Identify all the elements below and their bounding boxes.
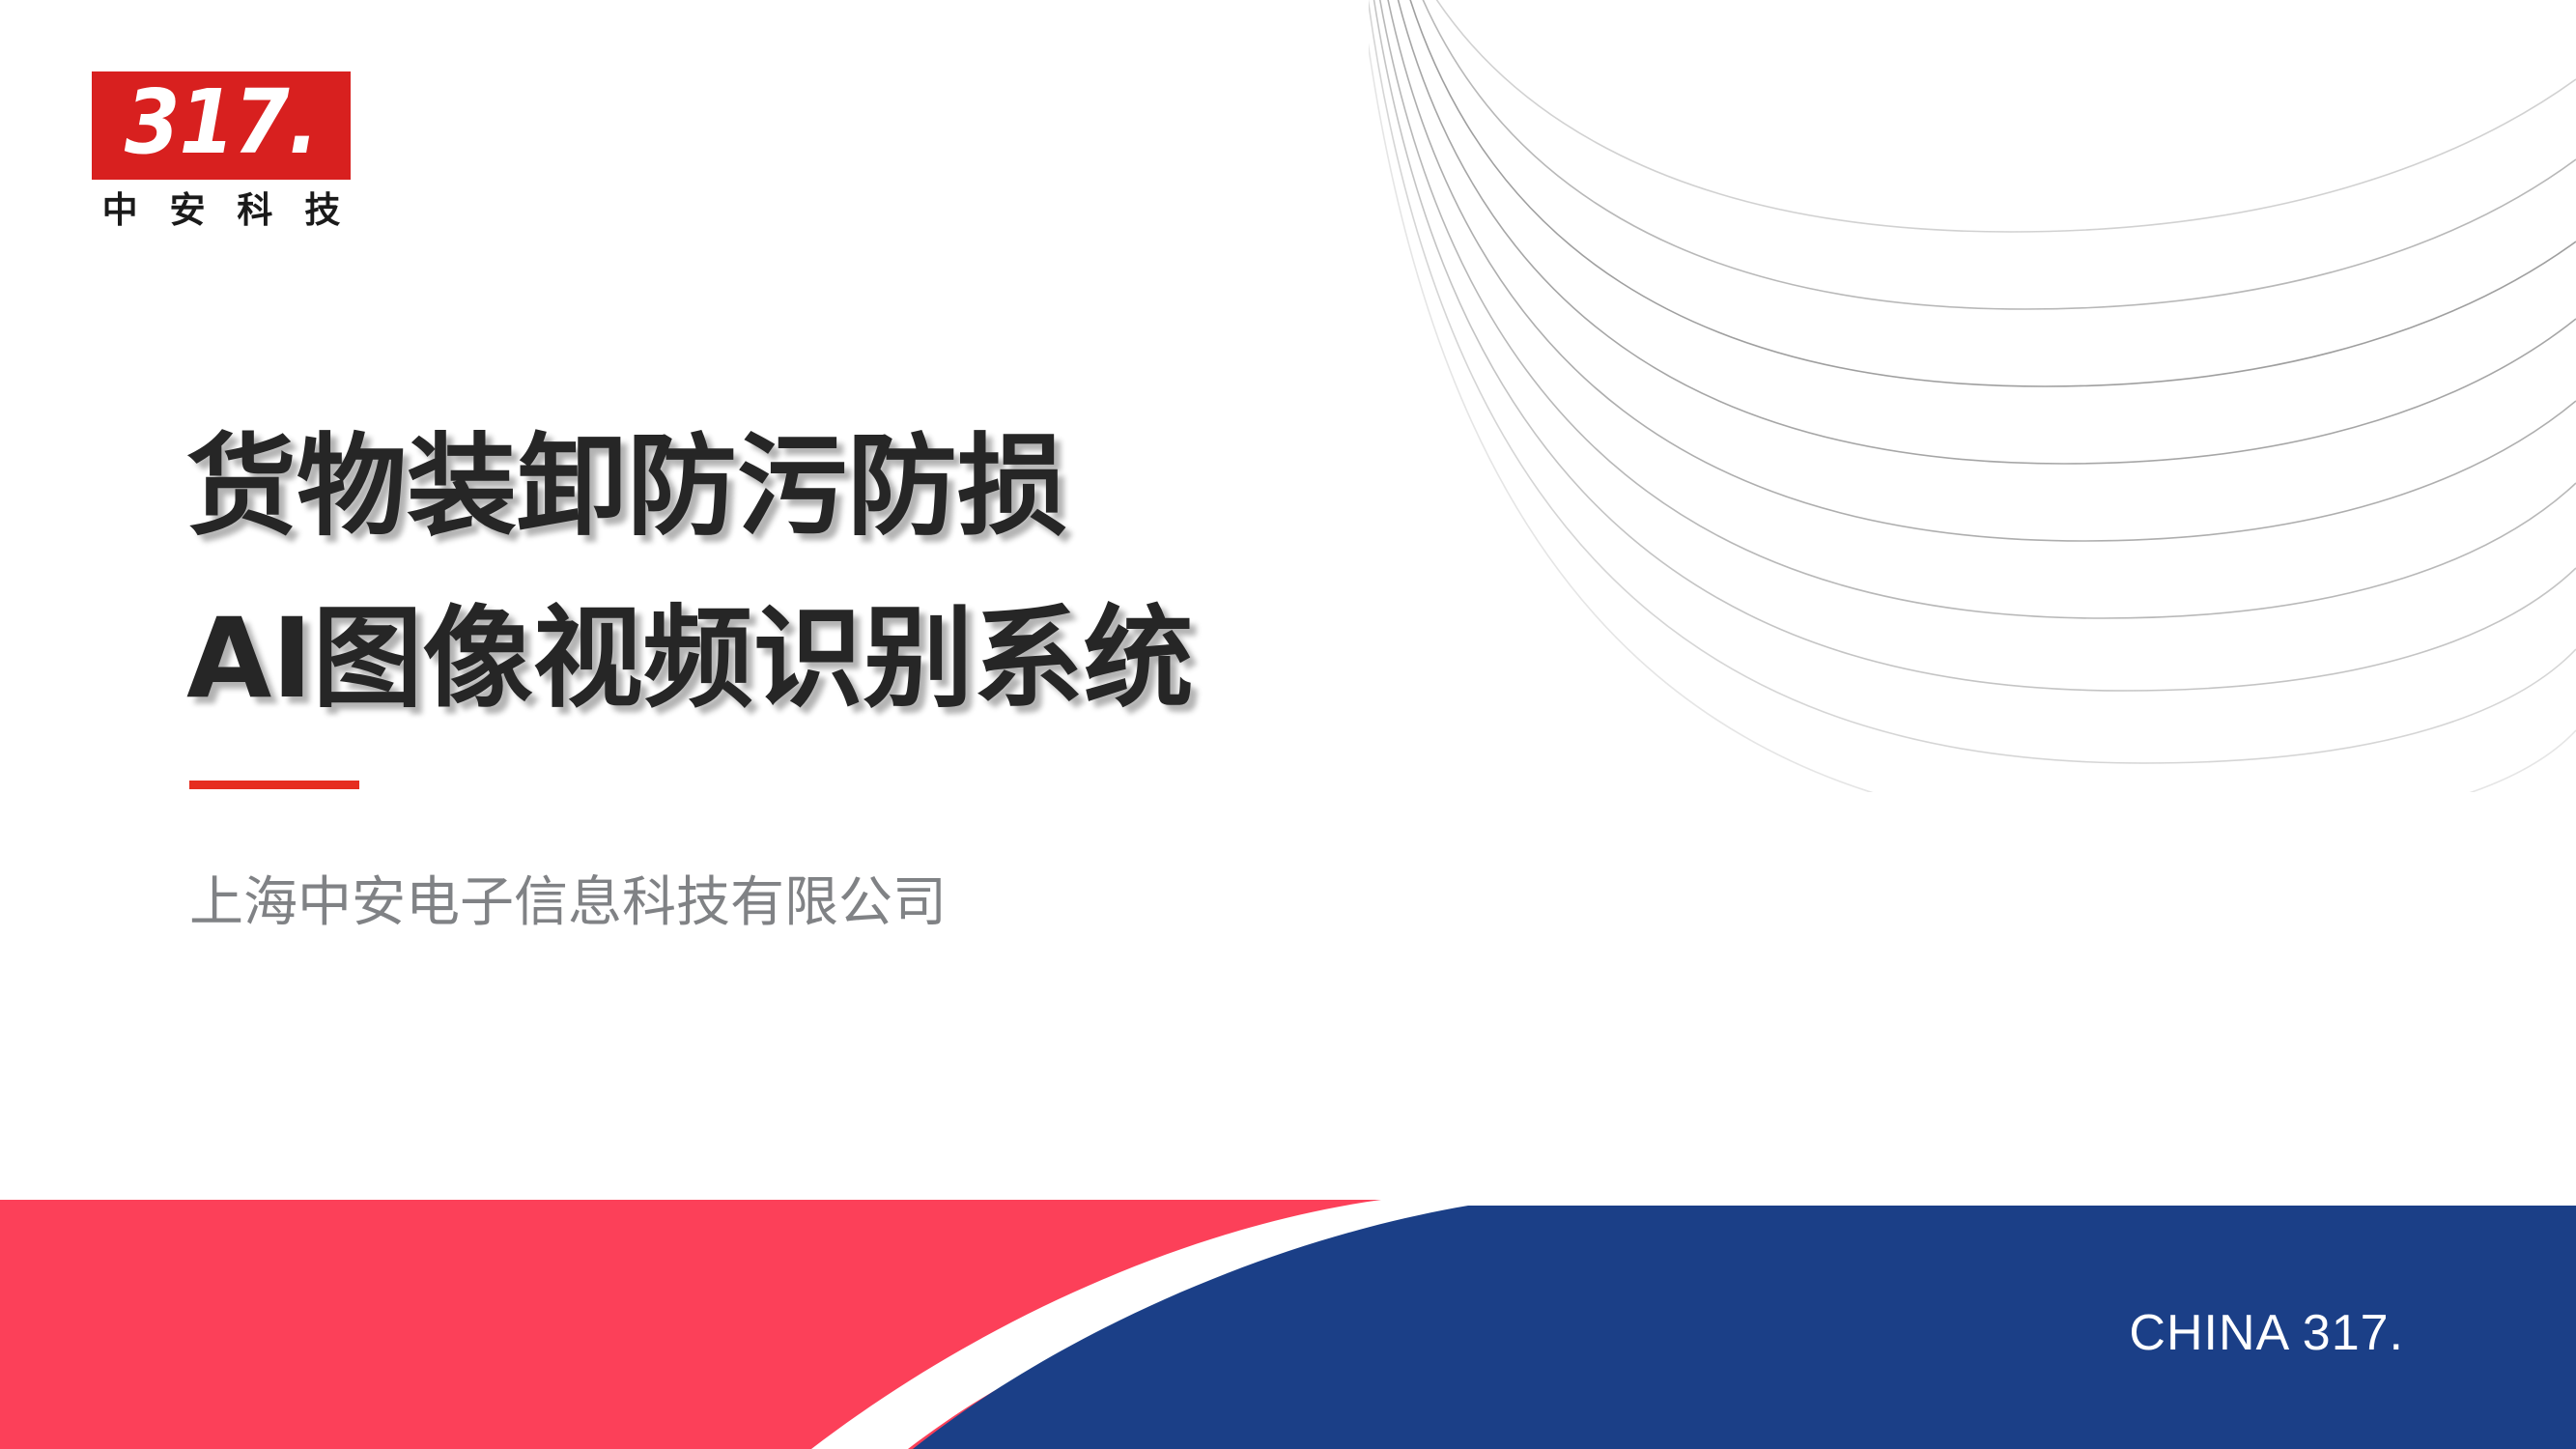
page-title: 货物装卸防污防损 AI图像视频识别系统 xyxy=(186,401,1539,745)
footer-brand-text: CHINA 317. xyxy=(2129,1304,2404,1362)
logo-mark: 317. xyxy=(92,71,351,180)
page-title-line-2: AI图像视频识别系统 xyxy=(186,573,1539,745)
logo-company-short: 中 安 科 技 xyxy=(92,189,351,232)
page-title-line-1: 货物装卸防污防损 xyxy=(186,401,1539,573)
logo-mark-text: 317. xyxy=(125,78,318,167)
title-divider xyxy=(189,781,359,789)
brand-logo: 317. 中 安 科 技 xyxy=(92,71,351,232)
slide-canvas: 317. 中 安 科 技 货物装卸防污防损 AI图像视频识别系统 上海中安电子信… xyxy=(0,0,2576,1449)
footer-band: CHINA 317. xyxy=(0,1200,2576,1449)
subtitle-company-name: 上海中安电子信息科技有限公司 xyxy=(189,869,947,937)
decorative-curves xyxy=(1369,0,2576,792)
